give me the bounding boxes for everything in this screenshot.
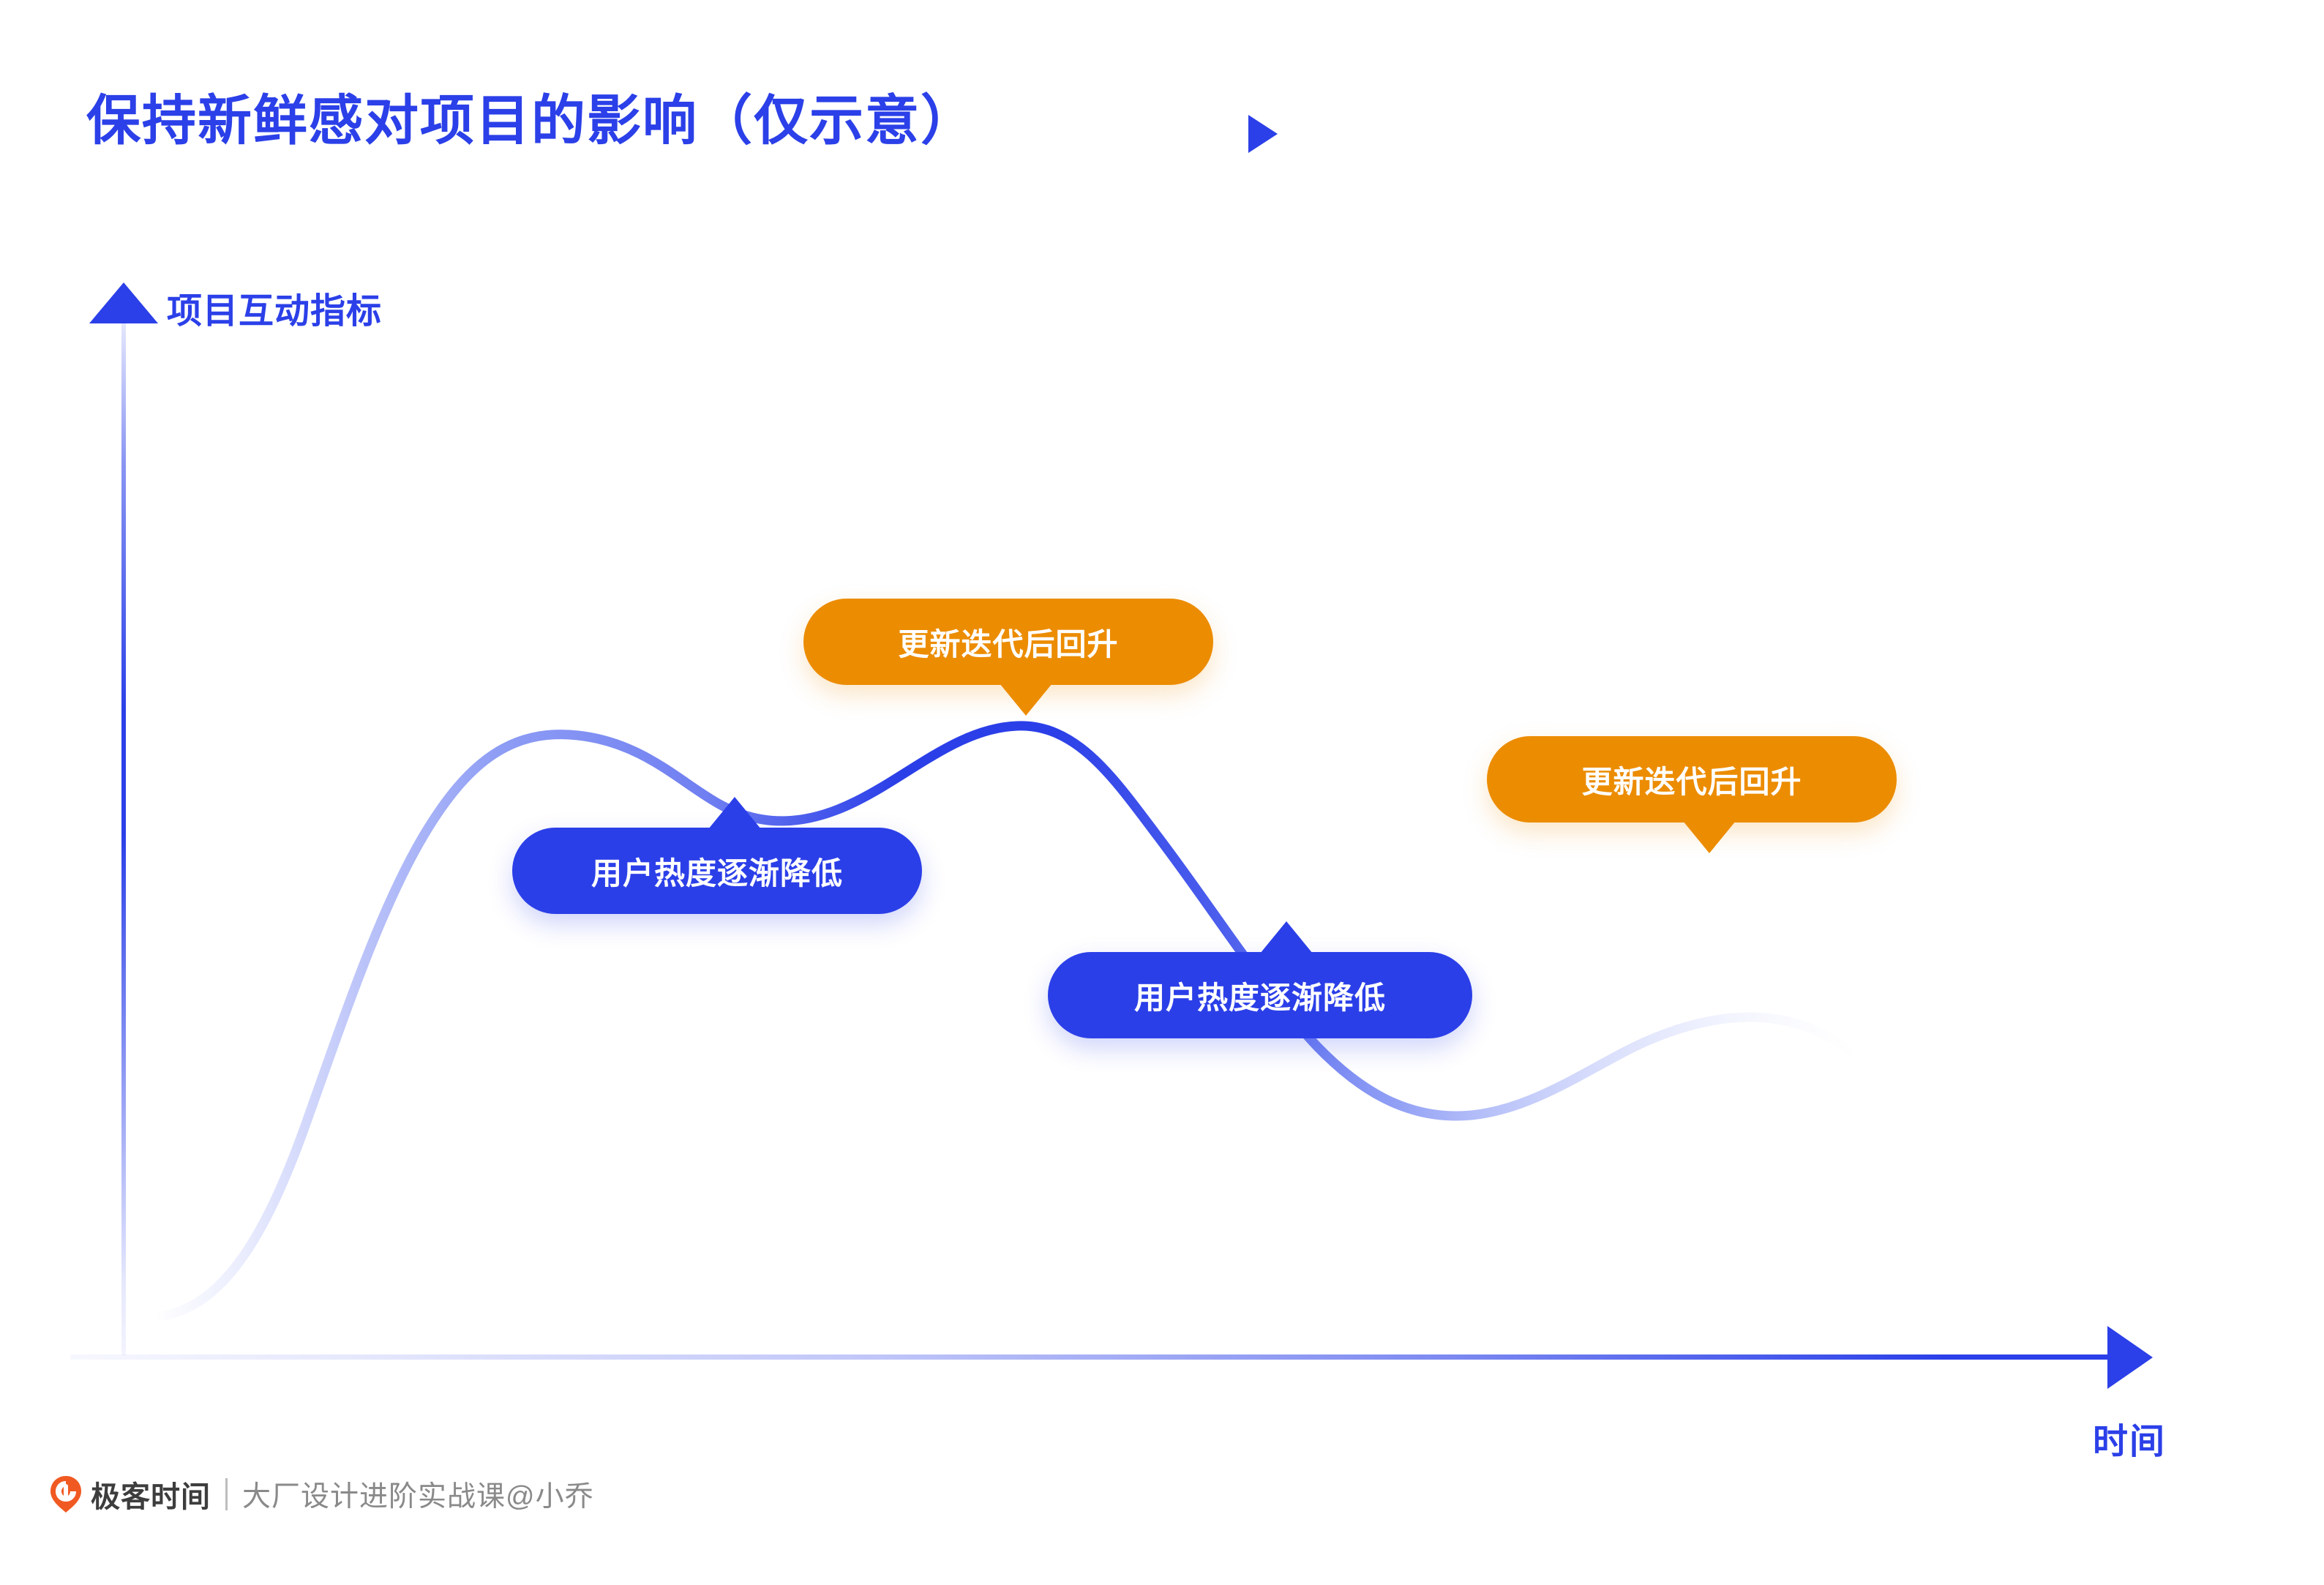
footer-divider — [225, 1478, 228, 1510]
callout-label: 更新迭代后回升 — [1581, 757, 1802, 802]
callout-badge[interactable]: 用户热度逐渐降低 — [1048, 952, 1472, 1038]
callout-badge[interactable]: 更新迭代后回升 — [803, 599, 1213, 685]
callout-label: 用户热度逐渐降低 — [591, 849, 843, 893]
callout-tail-up-icon — [1260, 921, 1313, 953]
footer-brand: 极客时间 — [91, 1473, 211, 1515]
x-axis-line — [70, 1354, 2107, 1360]
page-title: 保持新鲜感对项目的影响（仅示意） — [86, 94, 976, 148]
geekbang-pin-logo-icon — [48, 1475, 83, 1513]
y-axis-label: 项目互动指标 — [167, 282, 382, 333]
callout-tail-up-icon — [708, 797, 761, 829]
arrow-right-triangle-icon — [2107, 1326, 2153, 1389]
callout-tail-down-icon — [1683, 821, 1736, 853]
play-triangle-icon — [1248, 115, 1278, 153]
slide-canvas: 保持新鲜感对项目的影响（仅示意） 项目互动指标 时间 — [0, 0, 2324, 1585]
footer-course-label: 大厂设计进阶实战课@小乔 — [242, 1474, 594, 1515]
callout-tail-down-icon — [1000, 683, 1052, 716]
footer: 极客时间 大厂设计进阶实战课@小乔 — [48, 1472, 594, 1516]
callout-badge[interactable]: 用户热度逐渐降低 — [512, 828, 922, 914]
trend-curve — [0, 0, 2324, 1585]
callout-label: 更新迭代后回升 — [898, 620, 1118, 664]
callout-badge[interactable]: 更新迭代后回升 — [1487, 736, 1897, 823]
x-axis-label: 时间 — [2093, 1412, 2166, 1464]
callout-label: 用户热度逐渐降低 — [1134, 973, 1386, 1018]
y-axis-line — [121, 316, 126, 1355]
